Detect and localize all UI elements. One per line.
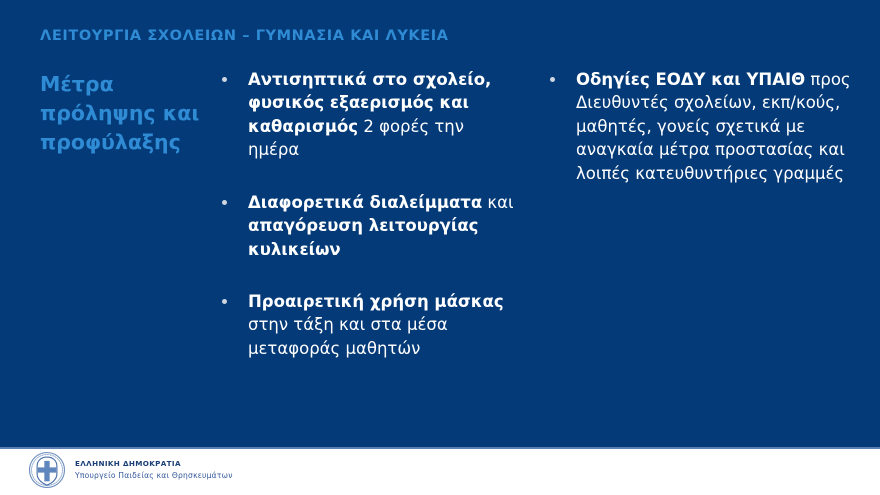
bullet-column-middle: Αντισηπτικά στο σχολείο, φυσικός εξαερισ… (218, 68, 518, 389)
bullet-bold-part: Οδηγίες ΕΟΔΥ και ΥΠΑΙΘ (576, 70, 805, 89)
list-item: Προαιρετική χρήση μάσκας στην τάξη και σ… (218, 290, 518, 360)
bullet-dot-icon (222, 200, 227, 205)
bullet-dot-icon (222, 299, 227, 304)
bullet-text: Προαιρετική χρήση μάσκας στην τάξη και σ… (248, 290, 518, 360)
bullet-bold-part-2: απαγόρευση λειτουργίας κυλικείων (248, 216, 478, 258)
bullet-bold-part: Προαιρετική χρήση μάσκας (248, 292, 504, 311)
footer-logo: ΕΛΛΗΝΙΚΗ ΔΗΜΟΚΡΑΤΙΑ Υπουργείο Παιδείας κ… (28, 451, 233, 489)
section-heading: Μέτρα πρόληψης και προφύλαξης (40, 70, 215, 157)
bullet-dot-icon (222, 77, 227, 82)
list-item: Οδηγίες ΕΟΔΥ και ΥΠΑΙΘ προς Διευθυντές σ… (546, 68, 856, 185)
footer-line-2: Υπουργείο Παιδείας και Θρησκευμάτων (75, 471, 233, 481)
footer-line-1: ΕΛΛΗΝΙΚΗ ΔΗΜΟΚΡΑΤΙΑ (75, 459, 233, 469)
slide-header-title: ΛΕΙΤΟΥΡΓΙΑ ΣΧΟΛΕΙΩΝ – ΓΥΜΝΑΣΙΑ ΚΑΙ ΛΥΚΕΙ… (40, 28, 449, 44)
bullet-normal-part: στην τάξη και στα μέσα μεταφοράς μαθητών (248, 315, 448, 357)
list-item: Αντισηπτικά στο σχολείο, φυσικός εξαερισ… (218, 68, 518, 162)
greek-coat-of-arms-icon (28, 451, 66, 489)
bullet-normal-part: και (482, 193, 513, 212)
bullet-text: Αντισηπτικά στο σχολείο, φυσικός εξαερισ… (248, 68, 518, 162)
bullet-text: Διαφορετικά διαλείμματα και απαγόρευση λ… (248, 191, 518, 261)
bullet-dot-icon (550, 77, 555, 82)
bullet-text: Οδηγίες ΕΟΔΥ και ΥΠΑΙΘ προς Διευθυντές σ… (576, 68, 856, 185)
presentation-slide: ΛΕΙΤΟΥΡΓΙΑ ΣΧΟΛΕΙΩΝ – ΓΥΜΝΑΣΙΑ ΚΑΙ ΛΥΚΕΙ… (0, 0, 880, 495)
footer-text-block: ΕΛΛΗΝΙΚΗ ΔΗΜΟΚΡΑΤΙΑ Υπουργείο Παιδείας κ… (75, 459, 233, 481)
bullet-column-right: Οδηγίες ΕΟΔΥ και ΥΠΑΙΘ προς Διευθυντές σ… (546, 68, 856, 185)
bullet-bold-part: Διαφορετικά διαλείμματα (248, 193, 482, 212)
list-item: Διαφορετικά διαλείμματα και απαγόρευση λ… (218, 191, 518, 261)
